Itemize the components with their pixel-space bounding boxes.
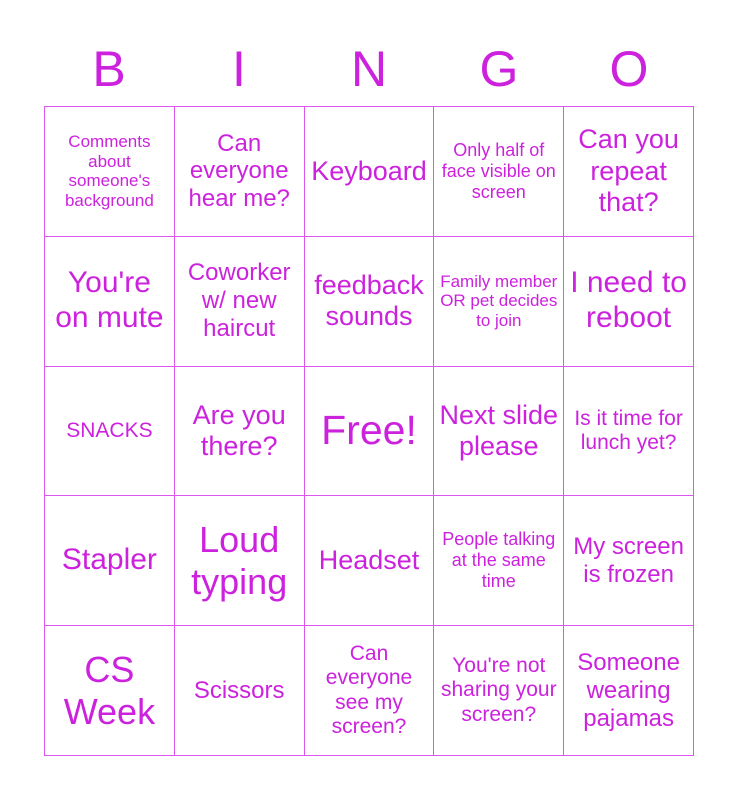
- bingo-cell[interactable]: SNACKS: [45, 367, 175, 497]
- bingo-cell[interactable]: Stapler: [45, 496, 175, 626]
- bingo-cell[interactable]: People talking at the same time: [434, 496, 564, 626]
- bingo-cell-label: Scissors: [179, 677, 300, 705]
- bingo-cell-label: People talking at the same time: [438, 529, 559, 592]
- bingo-cell-label: Loud typing: [179, 519, 300, 603]
- bingo-cell[interactable]: Coworker w/ new haircut: [175, 237, 305, 367]
- bingo-cell-label: feedback sounds: [309, 270, 430, 333]
- bingo-cell-label: SNACKS: [49, 419, 170, 443]
- bingo-cell[interactable]: Next slide please: [434, 367, 564, 497]
- bingo-header-letter-b: B: [44, 38, 174, 100]
- bingo-cell-label: Someone wearing pajamas: [568, 649, 689, 732]
- bingo-cell[interactable]: Loud typing: [175, 496, 305, 626]
- bingo-cell-label: Comments about someone's background: [49, 132, 170, 211]
- bingo-header-letter-o: O: [564, 38, 694, 100]
- bingo-cell-label: Headset: [309, 545, 430, 576]
- bingo-cell[interactable]: Someone wearing pajamas: [564, 626, 694, 756]
- bingo-header-letter-i: I: [174, 38, 304, 100]
- bingo-card: B I N G O Comments about someone's backg…: [0, 0, 736, 800]
- bingo-cell[interactable]: Comments about someone's background: [45, 107, 175, 237]
- bingo-cell[interactable]: You're on mute: [45, 237, 175, 367]
- bingo-header-letter-g: G: [434, 38, 564, 100]
- bingo-cell-label: Next slide please: [438, 400, 559, 463]
- bingo-cell-label: Free!: [309, 407, 430, 455]
- bingo-cell[interactable]: My screen is frozen: [564, 496, 694, 626]
- bingo-cell[interactable]: Can everyone hear me?: [175, 107, 305, 237]
- bingo-cell[interactable]: Are you there?: [175, 367, 305, 497]
- bingo-cell-label: Family member OR pet decides to join: [438, 272, 559, 331]
- bingo-cell[interactable]: Is it time for lunch yet?: [564, 367, 694, 497]
- bingo-cell-label: Are you there?: [179, 400, 300, 463]
- bingo-cell[interactable]: feedback sounds: [305, 237, 435, 367]
- bingo-header: B I N G O: [44, 38, 694, 100]
- bingo-cell[interactable]: I need to reboot: [564, 237, 694, 367]
- bingo-cell[interactable]: Can you repeat that?: [564, 107, 694, 237]
- bingo-cell[interactable]: Keyboard: [305, 107, 435, 237]
- bingo-free-space[interactable]: Free!: [305, 367, 435, 497]
- bingo-cell-label: You're on mute: [49, 266, 170, 336]
- bingo-cell-label: I need to reboot: [568, 266, 689, 336]
- bingo-cell-label: My screen is frozen: [568, 533, 689, 589]
- bingo-cell-label: Keyboard: [309, 156, 430, 187]
- bingo-cell[interactable]: Scissors: [175, 626, 305, 756]
- bingo-cell-label: Stapler: [49, 543, 170, 578]
- bingo-cell-label: CS Week: [49, 649, 170, 733]
- bingo-cell-label: Is it time for lunch yet?: [568, 407, 689, 456]
- bingo-cell[interactable]: Only half of face visible on screen: [434, 107, 564, 237]
- bingo-cell-label: Can everyone see my screen?: [309, 642, 430, 739]
- bingo-cell[interactable]: Can everyone see my screen?: [305, 626, 435, 756]
- bingo-cell-label: You're not sharing your screen?: [438, 654, 559, 727]
- bingo-grid: Comments about someone's backgroundCan e…: [44, 106, 694, 756]
- bingo-cell[interactable]: CS Week: [45, 626, 175, 756]
- bingo-cell[interactable]: Family member OR pet decides to join: [434, 237, 564, 367]
- bingo-cell-label: Only half of face visible on screen: [438, 140, 559, 203]
- bingo-cell-label: Can you repeat that?: [568, 124, 689, 218]
- bingo-cell[interactable]: Headset: [305, 496, 435, 626]
- bingo-header-letter-n: N: [304, 38, 434, 100]
- bingo-cell-label: Coworker w/ new haircut: [179, 259, 300, 342]
- bingo-cell-label: Can everyone hear me?: [179, 130, 300, 213]
- bingo-cell[interactable]: You're not sharing your screen?: [434, 626, 564, 756]
